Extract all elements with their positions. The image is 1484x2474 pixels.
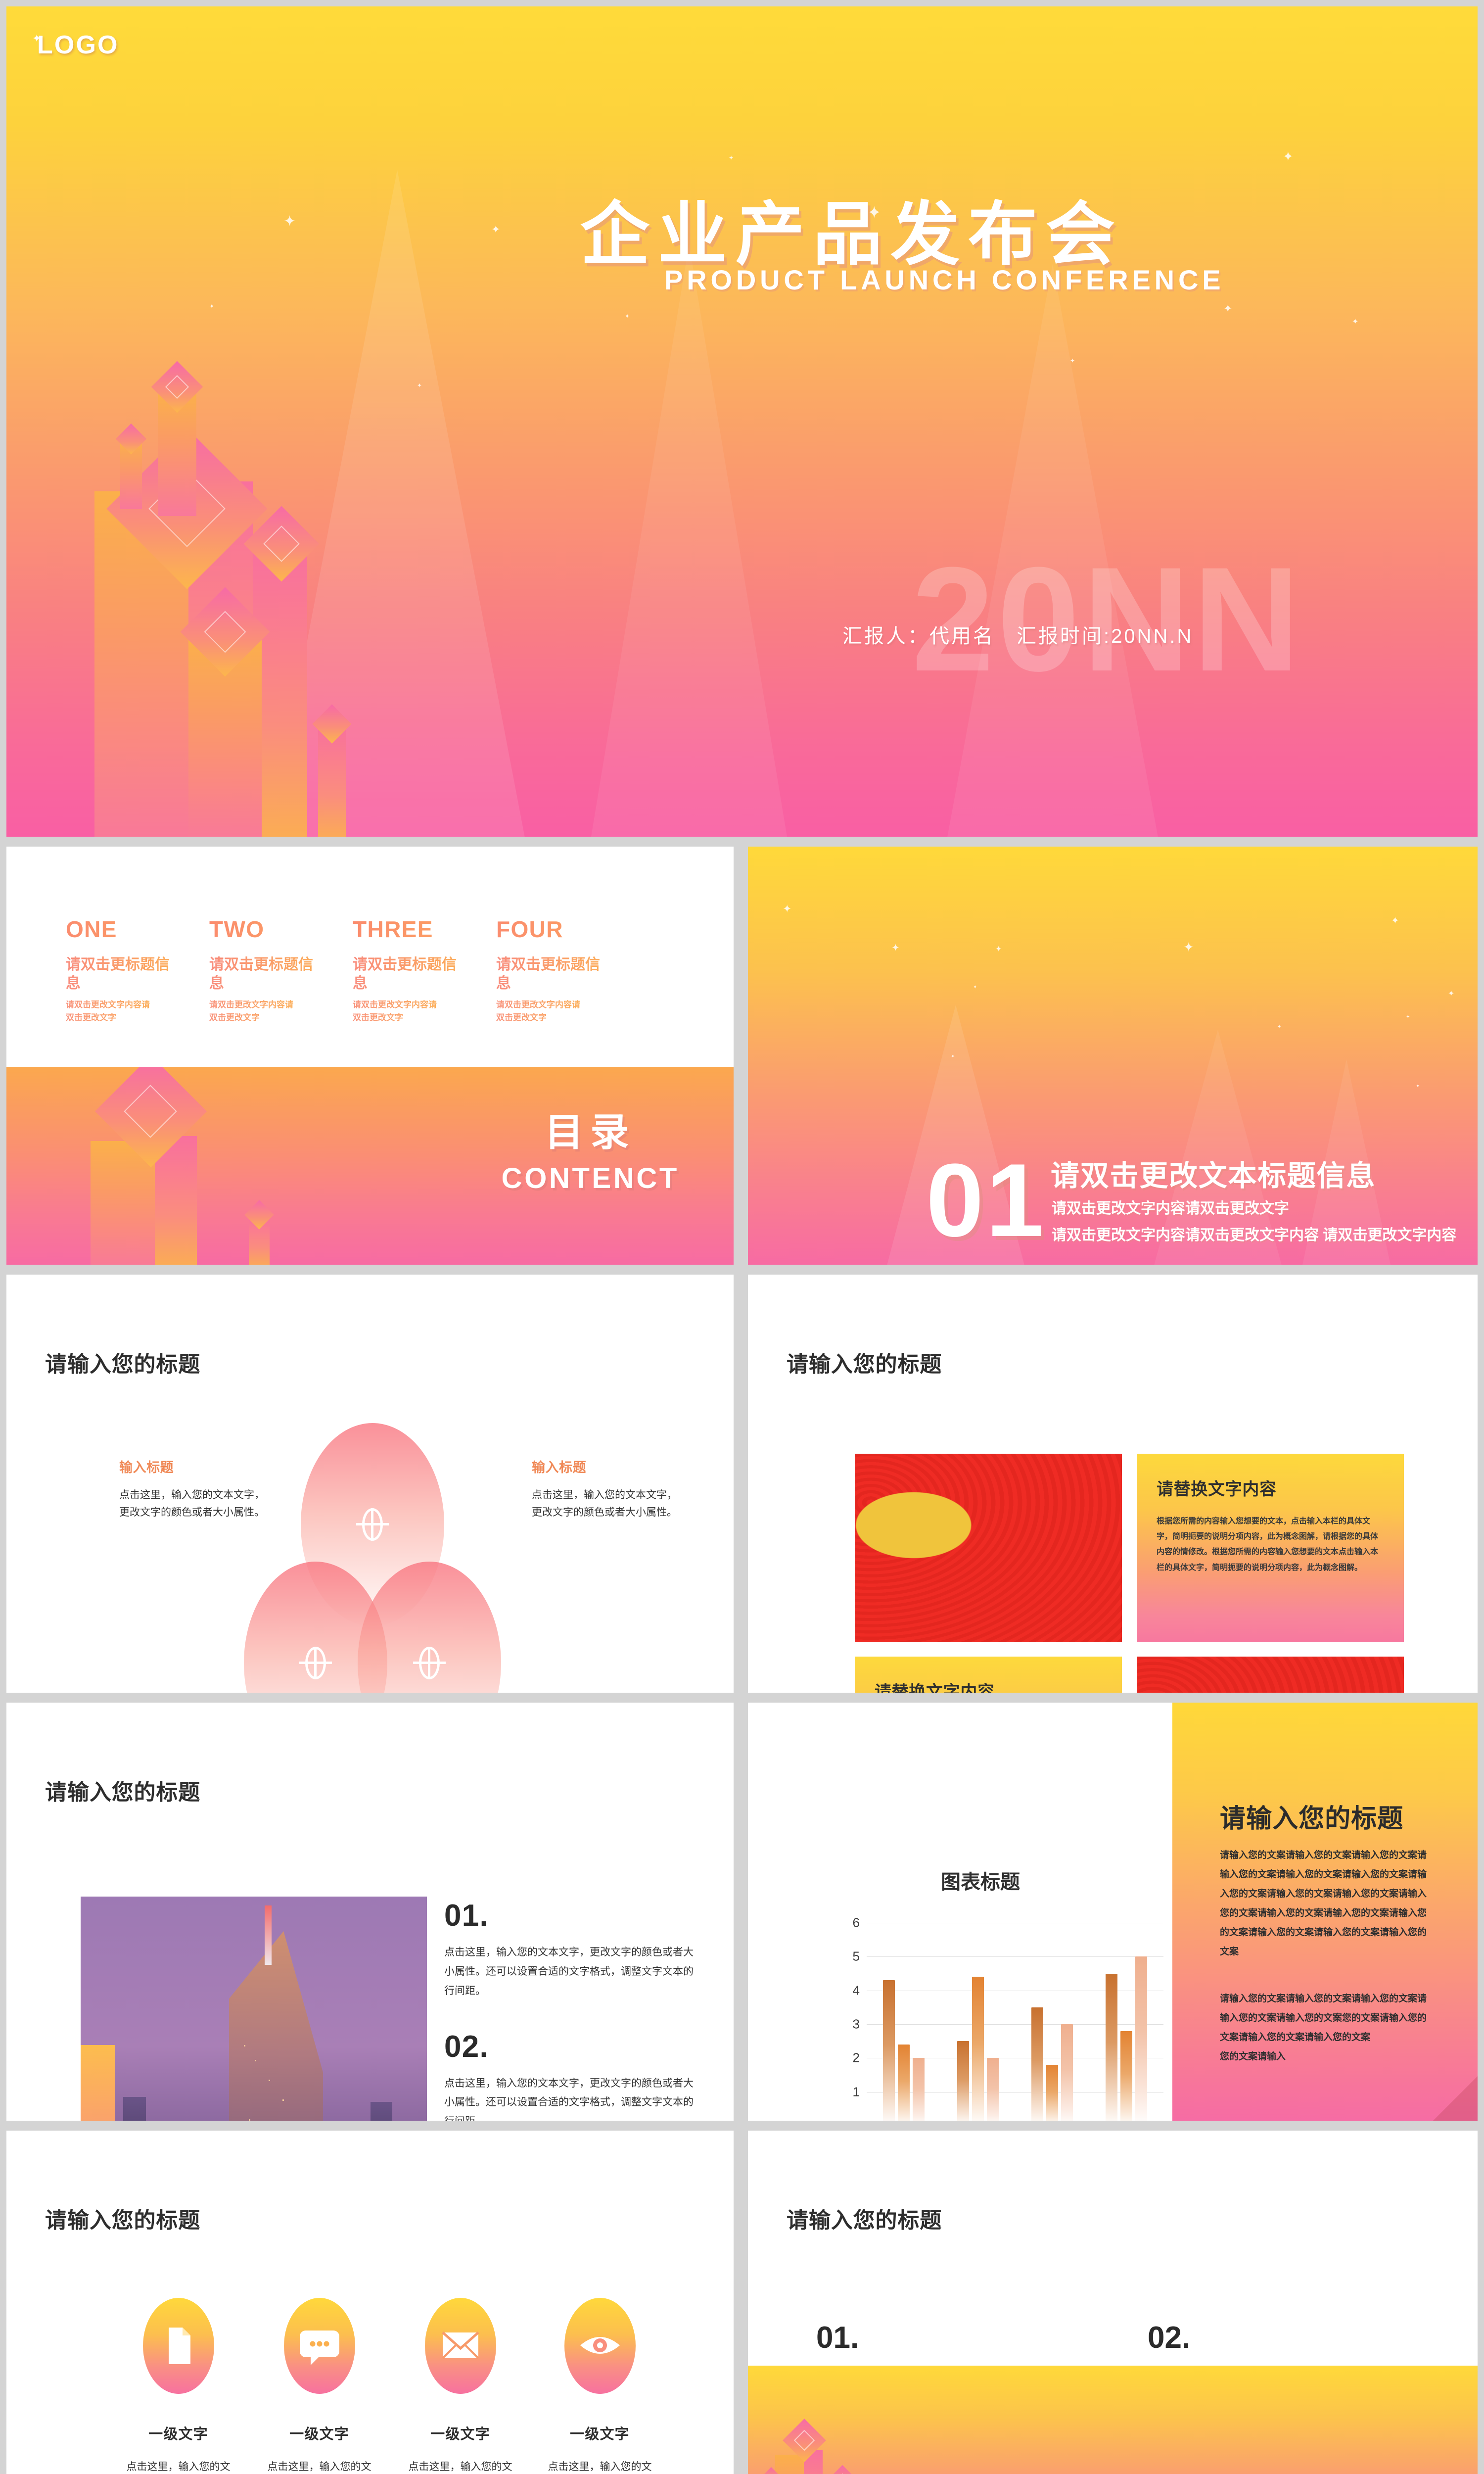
- block-heading: 请替换文字内容: [875, 1678, 1102, 1693]
- side-panel-title: 请输入您的标题: [1220, 1798, 1403, 1835]
- text-block-top-right[interactable]: 请替换文字内容 根据您所需的内容输入您想要的文本，点击输入本栏的具体文字，简明扼…: [1137, 1454, 1404, 1642]
- venn-label-bottom-right[interactable]: 输入标题 点击这里，输入您的文本文字，更改文字的颜色或者大小属性。: [532, 1690, 680, 1693]
- item-number: 02.: [444, 2032, 701, 2062]
- icon-card-body: 点击这里，输入您的文本文字，更改文字的颜色或者大小属性: [115, 2458, 241, 2474]
- venn-label-title: 输入标题: [119, 1690, 268, 1693]
- toc-desc: 请双击更改文字内容请双击更改文字: [66, 999, 157, 1024]
- chart-plot-area: 0123456类别 1类别 2类别 3类别 4: [867, 1923, 1163, 2121]
- icon-card-title: 一级文字: [115, 2423, 241, 2443]
- chart-bar[interactable]: [987, 2058, 999, 2121]
- icon-card[interactable]: 一级文字 点击这里，输入您的文本文字，更改文字的颜色或者大小属性: [537, 2289, 663, 2474]
- chart-bar[interactable]: [1031, 2007, 1043, 2121]
- chart-y-tick: 3: [853, 2017, 860, 2032]
- toc-bottom-band: 目录 CONTENCT: [6, 1067, 734, 1265]
- numbered-list: 01. 点击这里，输入您的文本文字，更改文字的颜色或者大小属性。还可以设置合适的…: [444, 1901, 701, 2121]
- chart-y-tick: 2: [853, 2050, 860, 2066]
- toc-desc: 请双击更改文字内容请双击更改文字: [496, 999, 588, 1024]
- city-night-photo[interactable]: Options: [81, 1897, 427, 2121]
- venn-label-title: 输入标题: [119, 1457, 268, 1476]
- slide-table-of-contents[interactable]: ONE 请双击更标题信息 请双击更改文字内容请双击更改文字 TWO 请双击更标题…: [6, 847, 734, 1265]
- vinyl-photo-block[interactable]: [855, 1454, 1122, 1642]
- chart-y-tick: 0: [853, 2118, 860, 2121]
- slide-deck-preview: ✦ ✦ ✦ ✦ ✦ ✦ ✦ ✦ ✦ ✦ ✦ 20NN: [0, 0, 1484, 2474]
- chart-bar[interactable]: [957, 2041, 969, 2121]
- options-tab[interactable]: Options: [81, 2045, 115, 2121]
- venn-label-bottom-left[interactable]: 输入标题 点击这里，输入您的文本文字，更改文字的颜色或者大小属性。: [119, 1690, 268, 1693]
- chart-bar[interactable]: [1061, 2024, 1073, 2121]
- toc-band-heading: 目录 CONTENCT: [502, 1101, 679, 1195]
- page-title: 请输入您的标题: [787, 2202, 942, 2234]
- icon-card-title: 一级文字: [397, 2423, 523, 2443]
- chart-y-tick: 4: [853, 1983, 860, 1998]
- list-item[interactable]: 01. 点击这里，输入您的文本文字，更改文字的颜色或者大小属性。还可以设置合适的…: [444, 1901, 701, 2001]
- chat-bubble-icon[interactable]: [275, 2289, 364, 2403]
- venn-label-top-right[interactable]: 输入标题 点击这里，输入您的文本文字，更改文字的颜色或者大小属性。: [532, 1457, 680, 1521]
- toc-columns: ONE 请双击更标题信息 请双击更改文字内容请双击更改文字 TWO 请双击更标题…: [66, 916, 684, 1024]
- slide-two-points[interactable]: 请输入您的标题 01. 点击这里，输入您的文本文字，更改文字的颜色或者大小属性。…: [748, 2131, 1478, 2474]
- isometric-city-decoration: [71, 333, 565, 837]
- venn-label-top-left[interactable]: 输入标题 点击这里，输入您的文本文字，更改文字的颜色或者大小属性。: [119, 1457, 268, 1521]
- isometric-city-decoration: [765, 2415, 894, 2474]
- chart-bar[interactable]: [883, 1980, 895, 2121]
- logo-text[interactable]: LOGO: [37, 30, 119, 60]
- mountain-shape: [590, 244, 788, 837]
- slide-image-and-list[interactable]: 请输入您的标题 Options: [6, 1703, 734, 2121]
- toc-title: 请双击更标题信息: [353, 955, 467, 993]
- toc-number: TWO: [209, 916, 353, 943]
- block-body: 根据您所需的内容输入您想要的文本，点击输入本栏的具体文字，简明扼要的说明分项内容…: [1157, 1514, 1384, 1575]
- photo-skyline: [123, 2097, 146, 2121]
- item-number: 01.: [444, 1901, 701, 1931]
- side-panel-paragraph-1: 请输入您的文案请输入您的文案请输入您的文案请输入您的文案请输入您的文案请输入您的…: [1220, 1846, 1428, 1962]
- toc-band-title-cn: 目录: [502, 1101, 679, 1157]
- photo-mast: [265, 1905, 272, 1965]
- chart-bar-group: [1089, 1923, 1163, 2121]
- eye-icon[interactable]: [556, 2289, 645, 2403]
- slide-title-en: PRODUCT LAUNCH CONFERENCE: [664, 264, 1224, 296]
- icon-card-title: 一级文字: [256, 2423, 382, 2443]
- slide-title[interactable]: ✦ ✦ ✦ ✦ ✦ ✦ ✦ ✦ ✦ ✦ ✦ 20NN: [6, 6, 1478, 837]
- target-icon: [299, 1647, 332, 1679]
- venn-label-title: 输入标题: [532, 1457, 680, 1476]
- item-body: 点击这里，输入您的文本文字，更改文字的颜色或者大小属性。还可以设置合适的文字格式…: [444, 1943, 701, 2001]
- toc-item[interactable]: THREE 请双击更标题信息 请双击更改文字内容请双击更改文字: [353, 916, 496, 1024]
- toc-title: 请双击更标题信息: [66, 955, 181, 993]
- chart-bar[interactable]: [1106, 1974, 1117, 2121]
- document-icon[interactable]: [134, 2289, 223, 2403]
- section-number: 01: [926, 1148, 1046, 1252]
- chart-title: 图表标题: [792, 1866, 1168, 1895]
- year-watermark: 20NN: [912, 533, 1303, 705]
- chart-bar-group: [941, 1923, 1015, 2121]
- toc-number: THREE: [353, 916, 496, 943]
- venn-label-body: 点击这里，输入您的文本文字，更改文字的颜色或者大小属性。: [532, 1487, 680, 1521]
- venn-label-body: 点击这里，输入您的文本文字，更改文字的颜色或者大小属性。: [119, 1487, 268, 1521]
- slide-icon-cards[interactable]: 请输入您的标题 一级文字 点击这里，输入您的文本文字，更改文字的颜色或者大小属性…: [6, 2131, 734, 2474]
- chart-bar-group: [867, 1923, 941, 2121]
- icon-card[interactable]: 一级文字 点击这里，输入您的文本文字，更改文字的颜色或者大小属性: [256, 2289, 382, 2474]
- text-block-bottom-left[interactable]: 请替换文字内容 根据您所需的内容输入您想要的文本，点击输入本栏的具体文字，简明扼…: [855, 1657, 1122, 1693]
- chart-bar[interactable]: [972, 1977, 984, 2121]
- toc-desc: 请双击更改文字内容请双击更改文字: [209, 999, 301, 1024]
- icon-card[interactable]: 一级文字 点击这里，输入您的文本文字，更改文字的颜色或者大小属性: [397, 2289, 523, 2474]
- toc-item[interactable]: TWO 请双击更标题信息 请双击更改文字内容请双击更改文字: [209, 916, 353, 1024]
- item-number: 02.: [1148, 2323, 1190, 2353]
- page-title: 请输入您的标题: [787, 1346, 942, 1378]
- block-heading: 请替换文字内容: [1157, 1475, 1384, 1500]
- toc-title: 请双击更标题信息: [209, 955, 324, 993]
- chart-y-tick: 6: [853, 1915, 860, 1931]
- side-text-panel: 请输入您的标题 请输入您的文案请输入您的文案请输入您的文案请输入您的文案请输入您…: [1172, 1703, 1478, 2121]
- page-title: 请输入您的标题: [45, 1774, 200, 1806]
- item-body: 点击这里，输入您的文本文字，更改文字的颜色或者大小属性。还可以设置合适的文字格式…: [444, 2074, 701, 2121]
- toc-desc: 请双击更改文字内容请双击更改文字: [353, 999, 444, 1024]
- section-line-1: 请双击更改文字内容请双击更改文字: [1052, 1196, 1289, 1218]
- target-icon: [413, 1647, 446, 1679]
- presenter-byline: 汇报人：代用名 汇报时间:20NN.N: [842, 620, 1193, 649]
- toc-number: ONE: [66, 916, 209, 943]
- fold-corner-decoration: [1433, 2076, 1478, 2121]
- isometric-city-decoration: [76, 1067, 283, 1265]
- chart-y-tick: 5: [853, 1949, 860, 1964]
- chart-bar[interactable]: [1135, 1956, 1147, 2121]
- side-panel-paragraph-2: 请输入您的文案请输入您的文案请输入您的文案请输入您的文案请输入您的文案您的文案请…: [1220, 1990, 1428, 2067]
- slide-four-blocks[interactable]: 请输入您的标题 请替换文字内容 根据您所需的内容输入您想要的文本，点击输入本栏的…: [748, 1275, 1478, 1693]
- toc-number: FOUR: [496, 916, 640, 943]
- icon-card-body: 点击这里，输入您的文本文字，更改文字的颜色或者大小属性: [256, 2458, 382, 2474]
- chart-bar[interactable]: [913, 2058, 925, 2121]
- photo-skyline: [371, 2102, 392, 2121]
- venn-diagram: [244, 1423, 501, 1693]
- toc-item[interactable]: ONE 请双击更标题信息 请双击更改文字内容请双击更改文字: [66, 916, 209, 1024]
- icon-card-body: 点击这里，输入您的文本文字，更改文字的颜色或者大小属性: [397, 2458, 523, 2474]
- page-title: 请输入您的标题: [45, 2202, 200, 2234]
- page-title: 请输入您的标题: [45, 1346, 200, 1378]
- chart-bar[interactable]: [1046, 2065, 1058, 2121]
- item-number: 01.: [816, 2323, 859, 2353]
- bottom-band: [748, 2366, 1478, 2474]
- chart-bar[interactable]: [898, 2045, 910, 2121]
- icon-card[interactable]: 一级文字 点击这里，输入您的文本文字，更改文字的颜色或者大小属性: [115, 2289, 241, 2474]
- section-title: 请双击更改文本标题信息: [1051, 1152, 1376, 1194]
- list-item[interactable]: 02. 点击这里，输入您的文本文字，更改文字的颜色或者大小属性。还可以设置合适的…: [444, 2032, 701, 2121]
- slide-section-divider[interactable]: ✦ ✦ ✦ ✦ ✦ ✦ ✦ ✦ ✦ ✦ ✦ 01 请双击更改文本标题信息 请双击…: [748, 847, 1478, 1265]
- chart-bar[interactable]: [1120, 2031, 1132, 2121]
- toc-band-title-en: CONTENCT: [502, 1162, 679, 1195]
- icon-card-title: 一级文字: [537, 2423, 663, 2443]
- toc-title: 请双击更标题信息: [496, 955, 611, 993]
- chart-y-tick: 1: [853, 2084, 860, 2099]
- envelope-icon[interactable]: [416, 2289, 505, 2403]
- target-icon: [356, 1508, 389, 1541]
- icon-card-body: 点击这里，输入您的文本文字，更改文字的颜色或者大小属性: [537, 2458, 663, 2474]
- chart-bar-group: [1015, 1923, 1089, 2121]
- vinyl-photo-block[interactable]: [1137, 1657, 1404, 1693]
- section-line-2: 请双击更改文字内容请双击更改文字内容 请双击更改文字内容: [1052, 1223, 1456, 1244]
- slide-bar-chart[interactable]: 图表标题 0123456类别 1类别 2类别 3类别 4 系列 1系列 2系列 …: [748, 1703, 1478, 2121]
- slide-venn-diagram[interactable]: 请输入您的标题 输入标题 点击这里，输入您的文本文字，更改文字的颜色或者大小属性…: [6, 1275, 734, 1693]
- toc-item[interactable]: FOUR 请双击更标题信息 请双击更改文字内容请双击更改文字: [496, 916, 640, 1024]
- bar-chart[interactable]: 图表标题 0123456类别 1类别 2类别 3类别 4 系列 1系列 2系列 …: [792, 1866, 1168, 2121]
- venn-label-title: 输入标题: [532, 1690, 680, 1693]
